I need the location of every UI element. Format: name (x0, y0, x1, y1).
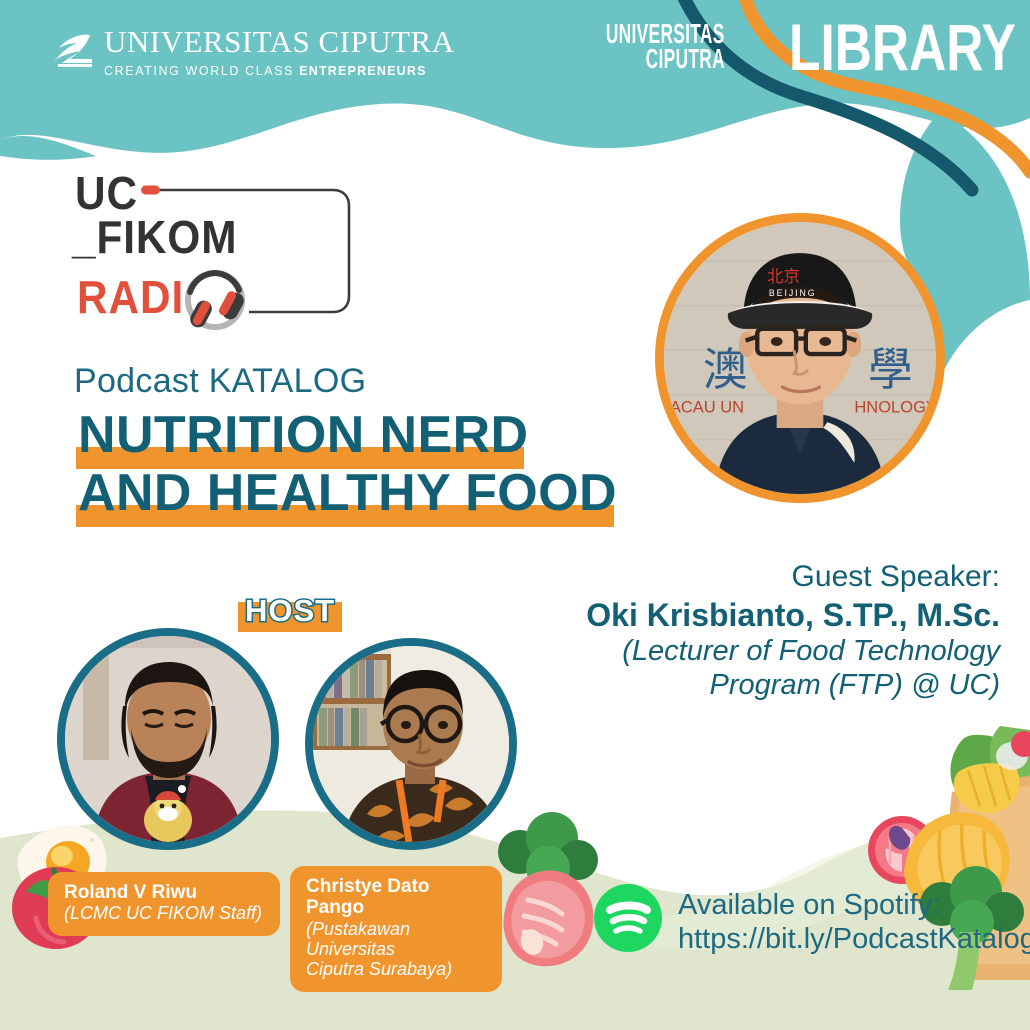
spotify-link-text[interactable]: Available on Spotify: https://bit.ly/Pod… (678, 888, 1030, 956)
host-role-line1: (Pustakawan Universitas (306, 919, 486, 960)
host-name: Christye Dato Pango (306, 876, 486, 919)
host-name-badge-roland: Roland V Riwu (LCMC UC FIKOM Staff) (48, 872, 280, 936)
title-line-2: AND HEALTHY FOOD (78, 463, 617, 523)
title-line-1: NUTRITION NERD (78, 405, 528, 465)
host-name: Roland V Riwu (64, 882, 264, 903)
spotify-icon[interactable] (594, 884, 662, 952)
steak-icon (504, 871, 594, 967)
spotify-line-1: Available on Spotify: (678, 888, 1030, 922)
host-role: (LCMC UC FIKOM Staff) (64, 903, 264, 923)
spotify-line-2: https://bit.ly/PodcastKatalog (678, 922, 1030, 956)
podcast-poster: UNIVERSITAS CIPUTRA CREATING WORLD CLASS… (0, 0, 1030, 1030)
host-name-badge-christye: Christye Dato Pango (Pustakawan Universi… (290, 866, 502, 992)
host-role-line2: Ciputra Surabaya) (306, 959, 486, 979)
